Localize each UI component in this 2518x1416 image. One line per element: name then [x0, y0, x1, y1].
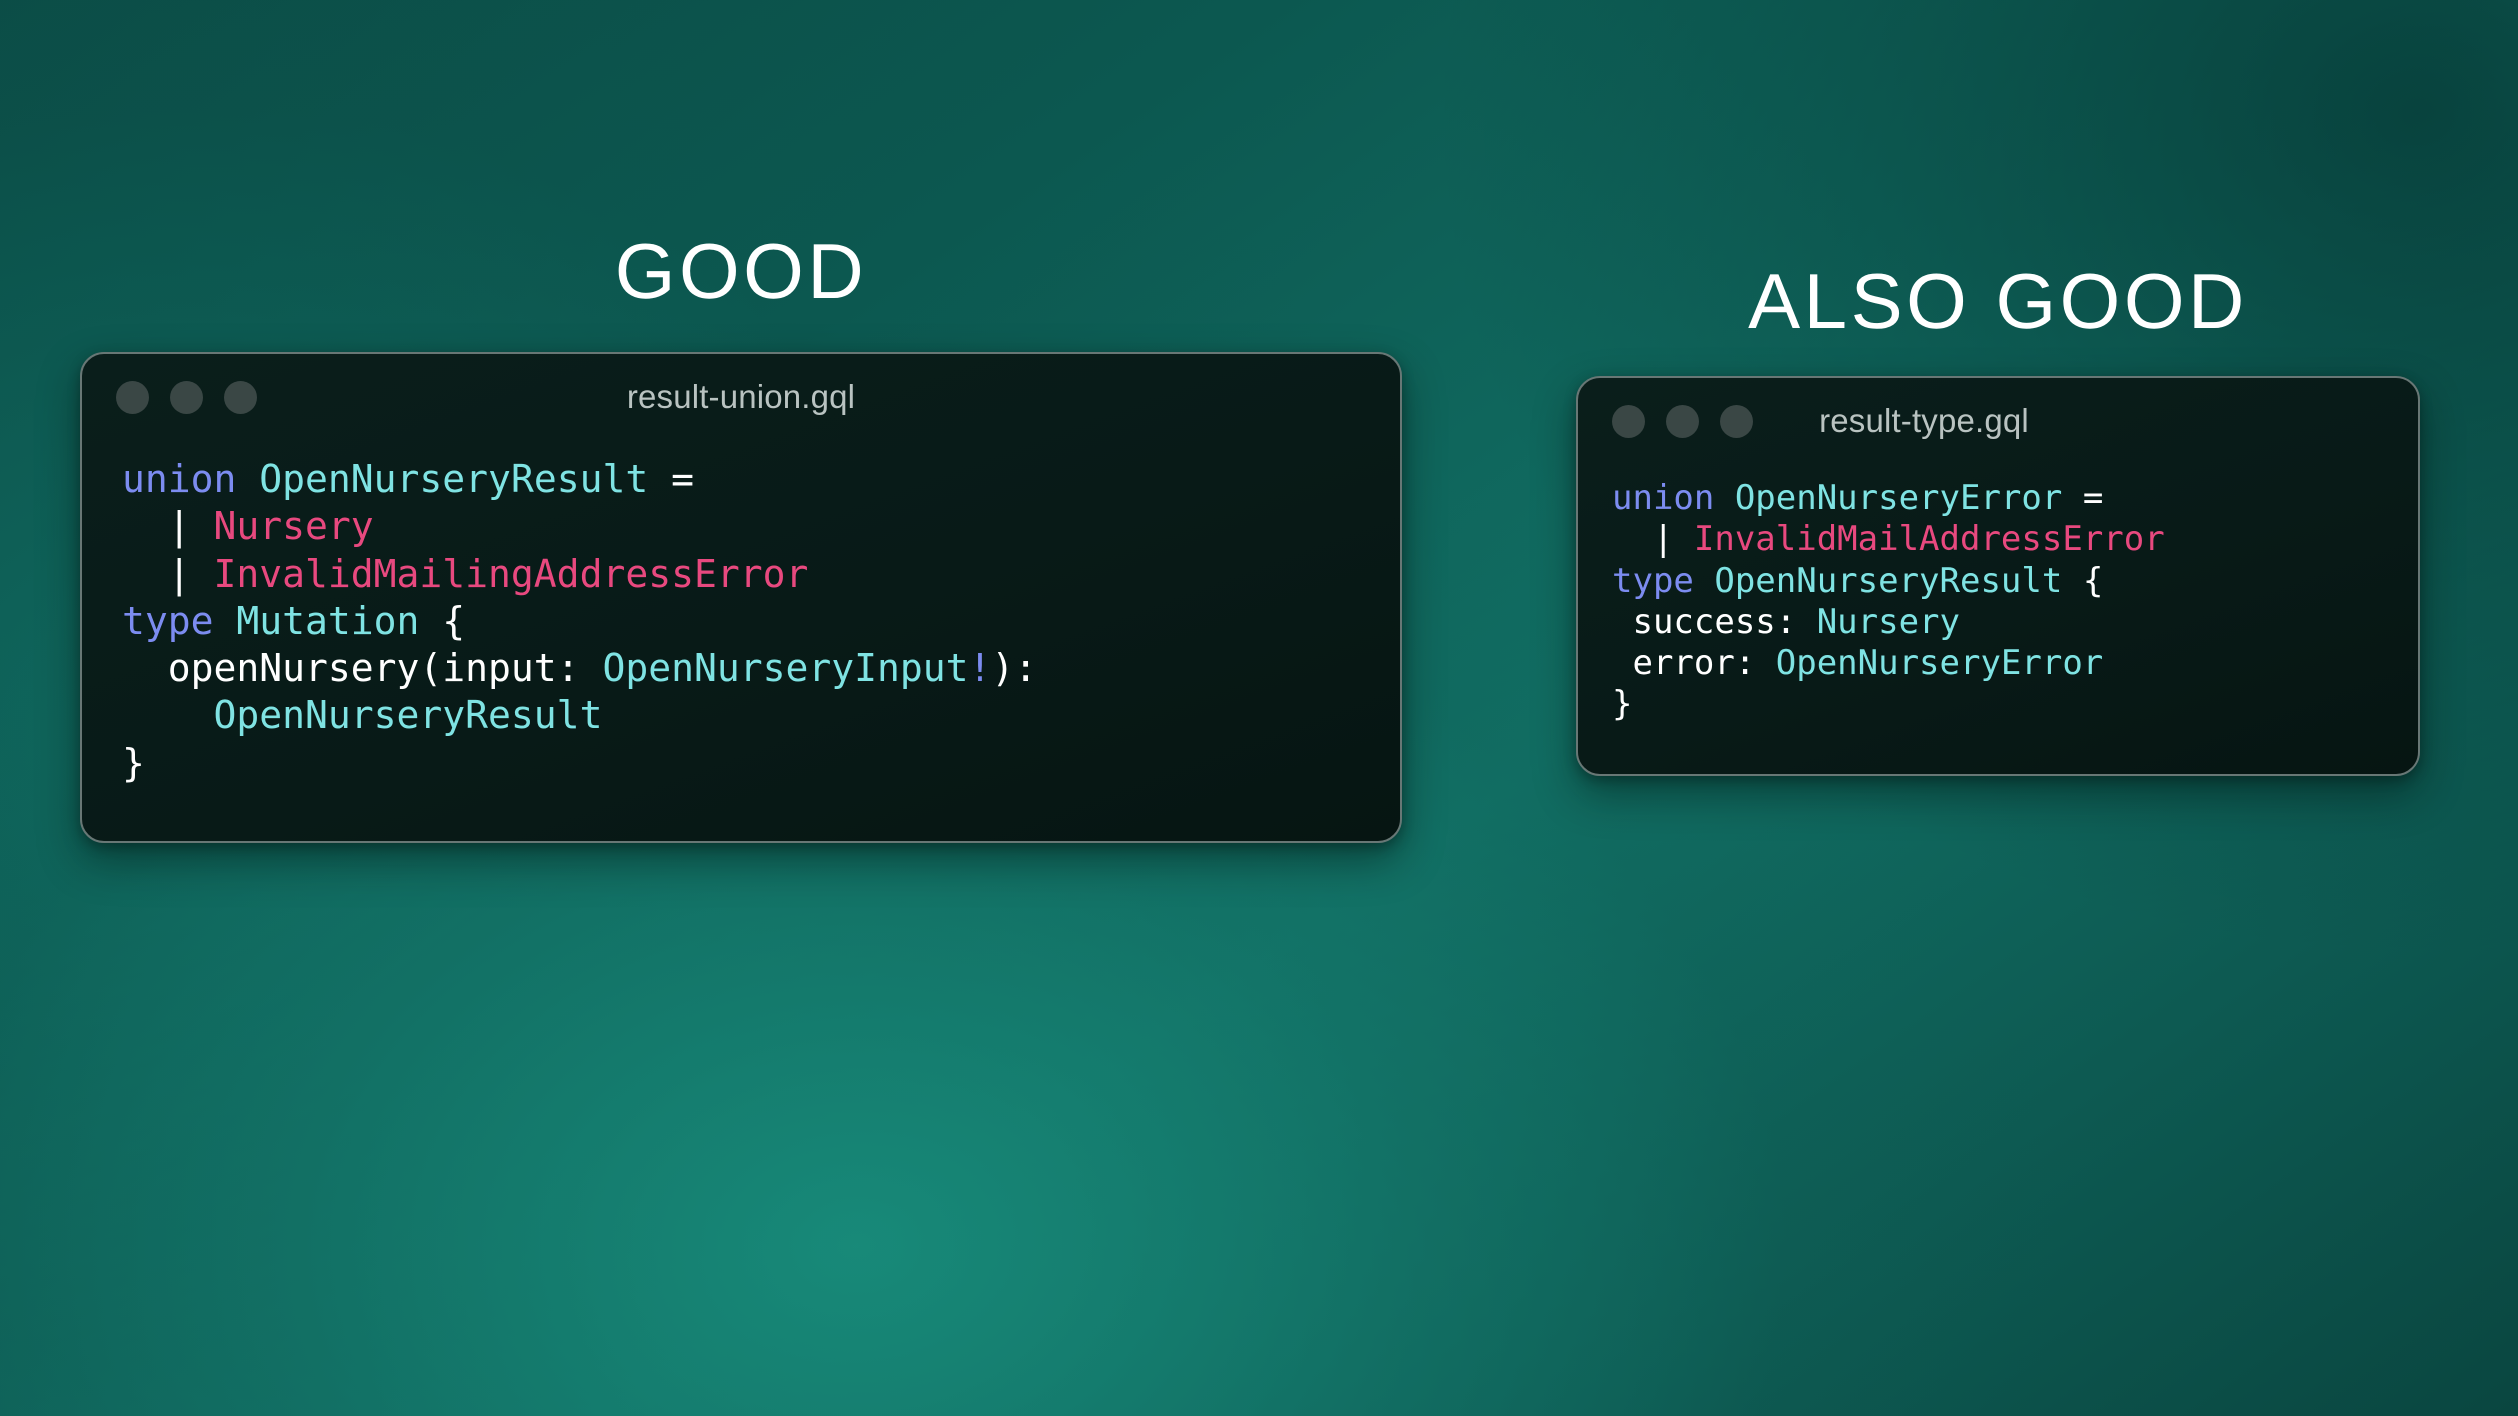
code-token-type: OpenNurseryResult: [214, 693, 603, 737]
code-window-filename: result-union.gql: [82, 378, 1400, 416]
code-token-plain: success:: [1612, 602, 1817, 642]
code-token-type: OpenNurseryInput: [602, 646, 968, 690]
traffic-lights: [116, 381, 257, 414]
window-maximize-dot-icon[interactable]: [224, 381, 257, 414]
window-close-dot-icon[interactable]: [116, 381, 149, 414]
code-token-type: OpenNurseryError: [1735, 478, 2063, 518]
code-line: openNursery(input: OpenNurseryInput!):: [122, 645, 1360, 692]
code-token-plain: =: [2062, 478, 2103, 518]
window-close-dot-icon[interactable]: [1612, 405, 1645, 438]
code-token-plain: |: [122, 504, 214, 548]
code-line: type OpenNurseryResult {: [1612, 561, 2384, 602]
code-line: success: Nursery: [1612, 602, 2384, 643]
panel-heading-also-good: ALSO GOOD: [1576, 262, 2420, 340]
code-line: type Mutation {: [122, 598, 1360, 645]
code-line: | Nursery: [122, 503, 1360, 550]
code-token-member: InvalidMailingAddressError: [214, 552, 809, 596]
code-token-keyword: !: [968, 646, 991, 690]
code-line: | InvalidMailingAddressError: [122, 551, 1360, 598]
panel-good: GOOD result-union.gql union OpenNurseryR…: [80, 232, 1402, 843]
code-token-member: Nursery: [214, 504, 374, 548]
code-line: union OpenNurseryResult =: [122, 456, 1360, 503]
code-token-keyword: union: [122, 457, 259, 501]
code-token-plain: =: [648, 457, 694, 501]
code-token-plain: }: [1612, 684, 1632, 724]
window-minimize-dot-icon[interactable]: [1666, 405, 1699, 438]
code-token-keyword: type: [122, 599, 236, 643]
code-token-plain: error:: [1612, 643, 1776, 683]
code-token-plain: {: [2062, 561, 2103, 601]
panel-also-good: ALSO GOOD result-type.gql union OpenNurs…: [1576, 262, 2420, 776]
code-token-plain: {: [419, 599, 465, 643]
window-minimize-dot-icon[interactable]: [170, 381, 203, 414]
traffic-lights: [1612, 405, 1753, 438]
code-token-type: OpenNurseryResult: [259, 457, 648, 501]
code-line: OpenNurseryResult: [122, 692, 1360, 739]
code-token-keyword: union: [1612, 478, 1735, 518]
code-window-result-type: result-type.gql union OpenNurseryError =…: [1576, 376, 2420, 776]
code-token-type: Mutation: [236, 599, 419, 643]
code-window-result-union: result-union.gql union OpenNurseryResult…: [80, 352, 1402, 843]
code-token-plain: |: [122, 552, 214, 596]
code-token-plain: }: [122, 741, 145, 785]
code-token-type: Nursery: [1817, 602, 1960, 642]
code-token-plain: openNursery(input:: [122, 646, 602, 690]
code-token-type: OpenNurseryError: [1776, 643, 2104, 683]
code-line: union OpenNurseryError =: [1612, 478, 2384, 519]
code-line: | InvalidMailAddressError: [1612, 519, 2384, 560]
code-line: }: [122, 740, 1360, 787]
code-token-type: OpenNurseryResult: [1714, 561, 2062, 601]
code-window-titlebar: result-union.gql: [82, 354, 1400, 440]
code-line: error: OpenNurseryError: [1612, 643, 2384, 684]
code-token-plain: |: [1612, 519, 1694, 559]
code-block-result-union: union OpenNurseryResult = | Nursery | In…: [82, 440, 1400, 841]
code-window-titlebar: result-type.gql: [1578, 378, 2418, 464]
code-token-member: InvalidMailAddressError: [1694, 519, 2165, 559]
panel-heading-good: GOOD: [80, 232, 1402, 310]
window-maximize-dot-icon[interactable]: [1720, 405, 1753, 438]
code-token-keyword: type: [1612, 561, 1714, 601]
code-block-result-type: union OpenNurseryError = | InvalidMailAd…: [1578, 464, 2418, 774]
slide-stage: GOOD result-union.gql union OpenNurseryR…: [0, 0, 2518, 1416]
code-token-plain: ):: [991, 646, 1037, 690]
code-token-plain: [122, 693, 214, 737]
code-line: }: [1612, 684, 2384, 725]
